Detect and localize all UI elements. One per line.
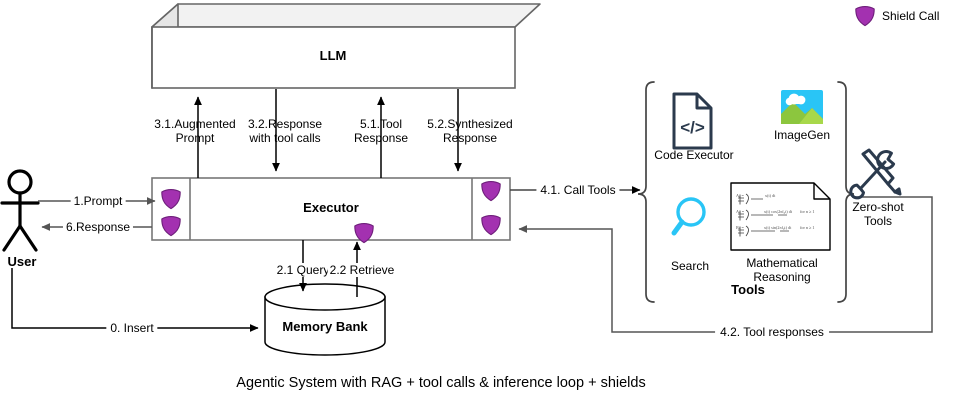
edge-label-tool-responses: 4.2. Tool responses bbox=[715, 325, 829, 339]
tools-group-label: Tools bbox=[731, 283, 765, 297]
svg-text:</>: </> bbox=[680, 118, 705, 137]
tool-label-zeroshot-2: Tools bbox=[864, 214, 892, 228]
tool-label-search: Search bbox=[671, 259, 709, 273]
edge-label-aug-prompt-2: Prompt bbox=[176, 131, 215, 145]
diagram-canvas: </> bbox=[0, 0, 970, 411]
edge-label-synth-resp-1: 5.2.Synthesized bbox=[427, 117, 512, 131]
svg-text:for n ≥ 1: for n ≥ 1 bbox=[800, 225, 815, 230]
tool-label-math-2: Reasoning bbox=[753, 270, 810, 284]
svg-text:x(t) cos(2πf₀t) dt: x(t) cos(2πf₀t) dt bbox=[764, 209, 793, 214]
llm-label: LLM bbox=[320, 49, 347, 63]
svg-text:Aₙ =: Aₙ = bbox=[736, 209, 745, 214]
diagram-caption: Agentic System with RAG + tool calls & i… bbox=[236, 376, 645, 390]
code-document-icon: </> bbox=[674, 94, 711, 148]
executor-label: Executor bbox=[303, 201, 359, 215]
edge-label-response: 6.Response bbox=[63, 220, 133, 234]
svg-text:x(t) dt: x(t) dt bbox=[765, 193, 776, 198]
edge-label-prompt: 1.Prompt bbox=[71, 194, 126, 208]
svg-text:for n ≥ 1: for n ≥ 1 bbox=[800, 209, 815, 214]
tool-label-math-1: Mathematical bbox=[746, 256, 817, 270]
edge-label-query: 2.1 Query bbox=[275, 263, 332, 277]
edge-label-call-tools: 4.1. Call Tools bbox=[536, 183, 619, 197]
edge-label-tool-resp-2: Response bbox=[354, 131, 408, 145]
edge-label-tool-resp-1: 5.1.Tool bbox=[360, 117, 402, 131]
diagram-vector-layer: </> bbox=[0, 0, 970, 411]
crossed-tools-icon bbox=[851, 150, 900, 198]
edge-label-aug-prompt-1: 3.1.Augmented bbox=[154, 117, 235, 131]
formula-document-icon: A₀ =x(t) dt Aₙ =x(t) cos(2πf₀t) dtfor n … bbox=[731, 183, 830, 250]
user-label: User bbox=[8, 255, 37, 269]
edge-label-resp-tools-2: with tool calls bbox=[249, 131, 320, 145]
tool-label-code-executor: Code Executor bbox=[654, 148, 733, 162]
memory-bank-label: Memory Bank bbox=[282, 320, 367, 334]
magnifier-icon bbox=[674, 199, 704, 233]
shield-legend-icon bbox=[856, 7, 874, 26]
svg-text:Bₙ =: Bₙ = bbox=[736, 225, 745, 230]
svg-text:x(t) sin(2πf₀t) dt: x(t) sin(2πf₀t) dt bbox=[764, 225, 792, 230]
edge-insert bbox=[12, 268, 258, 328]
edge-label-insert: 0. Insert bbox=[106, 321, 157, 335]
svg-text:A₀ =: A₀ = bbox=[736, 193, 745, 198]
llm-node[interactable] bbox=[152, 4, 540, 88]
tool-label-imagegen: ImageGen bbox=[774, 128, 830, 142]
edge-label-resp-tools-1: 3.2.Response bbox=[248, 117, 322, 131]
edge-label-synth-resp-2: Response bbox=[443, 131, 497, 145]
edge-label-retrieve: 2.2 Retrieve bbox=[328, 263, 397, 277]
image-gen-icon bbox=[781, 90, 823, 124]
legend-shield-label: Shield Call bbox=[882, 9, 939, 23]
tool-label-zeroshot-1: Zero-shot bbox=[852, 200, 903, 214]
user-actor[interactable] bbox=[2, 171, 38, 250]
